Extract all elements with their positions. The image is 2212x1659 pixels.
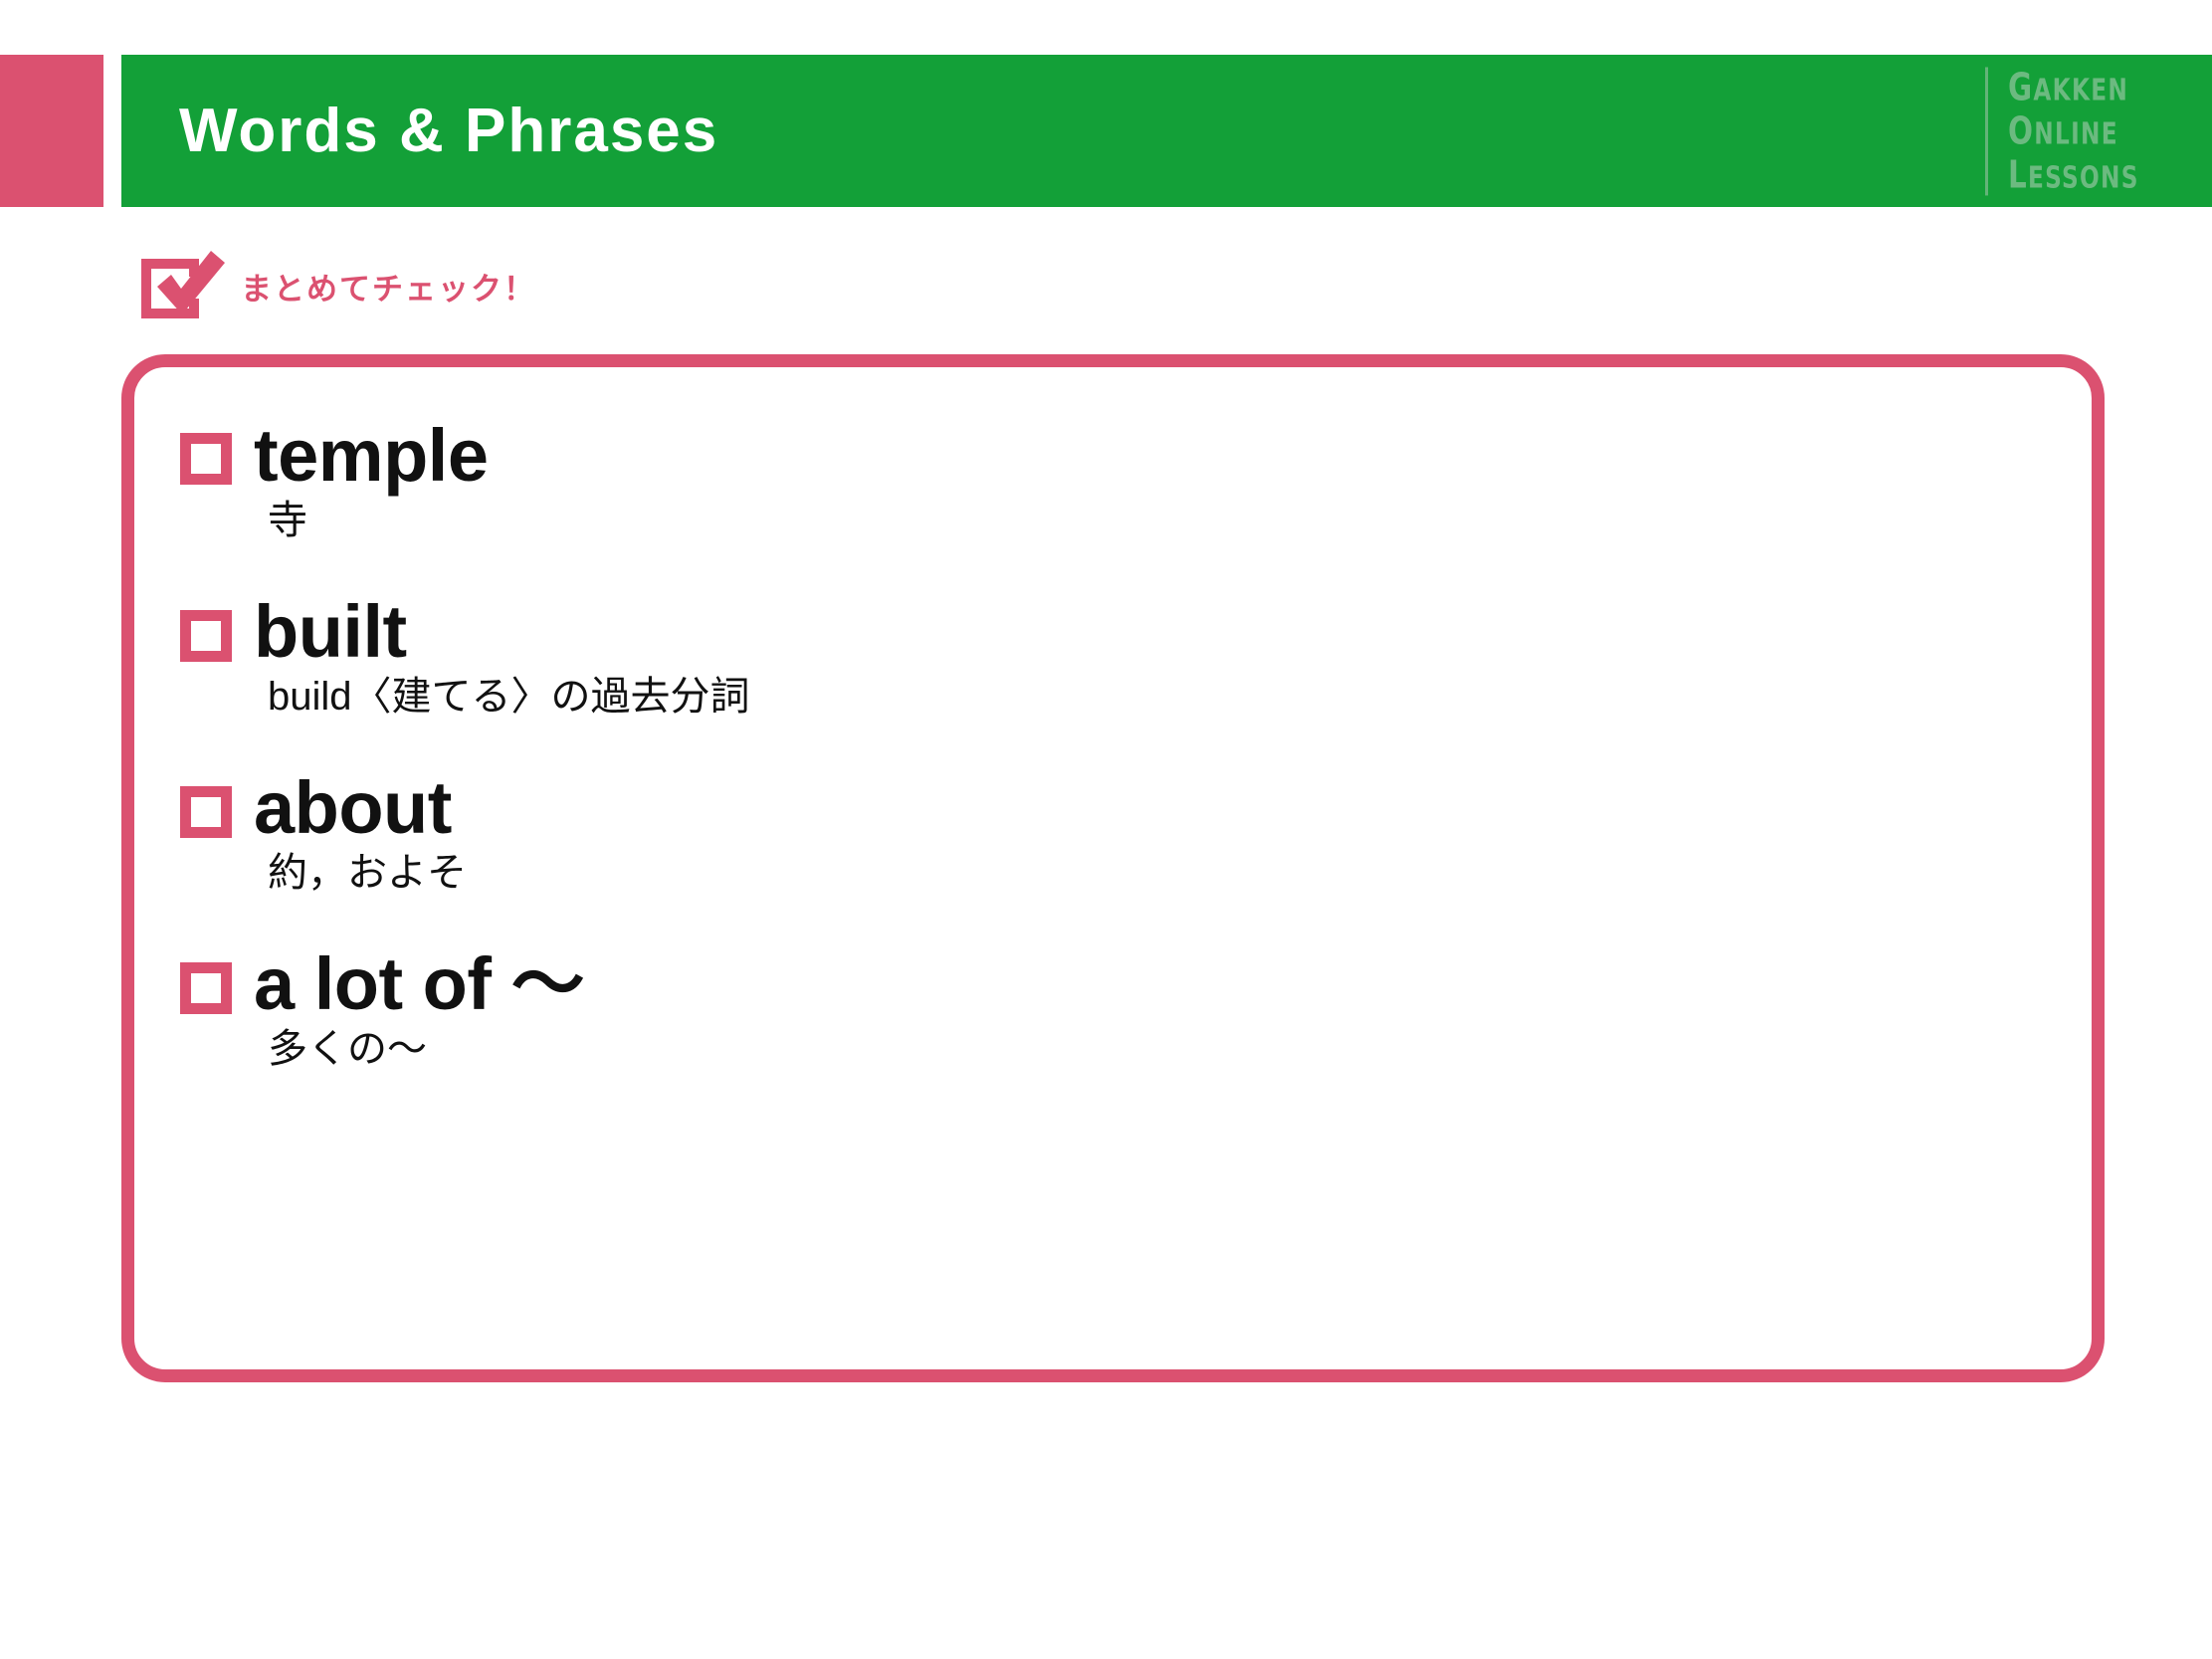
list-item: a lot of 〜 多くの〜 [180,943,2062,1075]
logo-line-gakken-rest: AKKEN [2033,73,2128,107]
logo-text-lines: GAKKEN ONLINE LESSONS [2008,67,2160,195]
vocab-gloss: 寺 [268,496,2062,546]
check-banner: まとめてチェック！ [137,247,536,328]
list-item: built build〈建てる〉の過去分詞 [180,591,2062,723]
vocab-gloss: build〈建てる〉の過去分詞 [268,672,2062,723]
vocabulary-card: temple 寺 built build〈建てる〉の過去分詞 about 約，お… [121,354,2105,1382]
vocab-entry-head: temple [180,415,2062,498]
header-accent-block [0,55,103,207]
page-header: Words & Phrases GAKKEN ONLINE LESSONS [0,55,2212,207]
checkbox-icon[interactable] [180,433,232,485]
vocabulary-list: temple 寺 built build〈建てる〉の過去分詞 about 約，お… [180,415,2062,1075]
vocab-entry-head: built [180,591,2062,674]
logo-line-lessons: LESSONS [2008,154,2139,195]
logo-line-gakken: GAKKEN [2008,67,2139,107]
vocab-gloss: 多くの〜 [268,1024,2062,1075]
vocab-term: temple [254,415,489,498]
checkbox-icon[interactable] [180,786,232,838]
logo-line-online: ONLINE [2008,110,2139,151]
logo-divider-rule [1985,67,1988,195]
logo-line-online-rest: NLINE [2034,116,2118,151]
header-title-bar: Words & Phrases GAKKEN ONLINE LESSONS [121,55,2212,207]
checked-checkbox-icon [137,247,229,328]
logo-line-lessons-cap: L [2008,152,2028,196]
gakken-online-lessons-logo: GAKKEN ONLINE LESSONS [1985,67,2160,195]
list-item: temple 寺 [180,415,2062,546]
vocab-term: built [254,591,407,674]
checkbox-icon[interactable] [180,610,232,662]
logo-line-lessons-rest: ESSONS [2028,160,2139,195]
vocab-entry-head: about [180,767,2062,850]
logo-line-gakken-cap: G [2008,65,2033,108]
vocab-term: about [254,767,452,850]
check-banner-label: まとめてチェック！ [241,264,536,312]
checkbox-icon[interactable] [180,962,232,1014]
list-item: about 約，およそ [180,767,2062,899]
vocab-gloss: 約，およそ [268,848,2062,899]
page-title: Words & Phrases [179,101,718,162]
vocab-entry-head: a lot of 〜 [180,943,2062,1026]
logo-line-online-cap: O [2008,108,2034,152]
vocab-term: a lot of 〜 [254,943,584,1026]
